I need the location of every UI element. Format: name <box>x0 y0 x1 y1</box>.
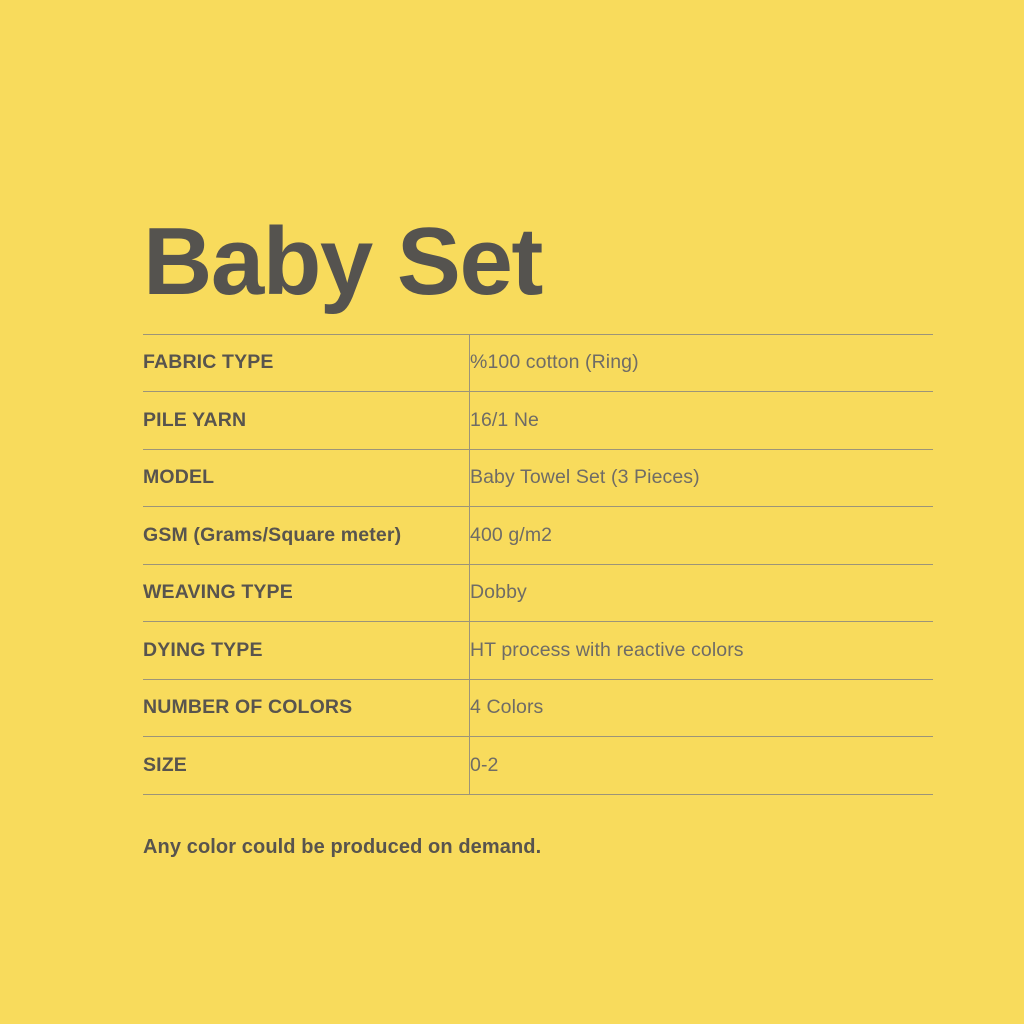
specification-table: FABRIC TYPE %100 cotton (Ring) PILE YARN… <box>143 334 933 795</box>
spec-label: GSM (Grams/Square meter) <box>143 507 470 565</box>
page-title: Baby Set <box>143 208 933 316</box>
footer-note: Any color could be produced on demand. <box>143 836 933 859</box>
spec-value: 0-2 <box>470 737 934 795</box>
spec-value: 400 g/m2 <box>470 507 934 565</box>
table-row: WEAVING TYPE Dobby <box>143 564 933 622</box>
spec-value: 4 Colors <box>470 679 934 737</box>
spec-label: MODEL <box>143 449 470 507</box>
spec-value: %100 cotton (Ring) <box>470 334 934 392</box>
spec-value: Dobby <box>470 564 934 622</box>
table-row: SIZE 0-2 <box>143 737 933 795</box>
table-row: GSM (Grams/Square meter) 400 g/m2 <box>143 507 933 565</box>
spec-value: 16/1 Ne <box>470 392 934 450</box>
spec-label: WEAVING TYPE <box>143 564 470 622</box>
spec-value: Baby Towel Set (3 Pieces) <box>470 449 934 507</box>
product-spec-card: Baby Set FABRIC TYPE %100 cotton (Ring) … <box>0 0 1024 1024</box>
table-row: DYING TYPE HT process with reactive colo… <box>143 622 933 680</box>
table-row: MODEL Baby Towel Set (3 Pieces) <box>143 449 933 507</box>
spec-label: PILE YARN <box>143 392 470 450</box>
spec-label: DYING TYPE <box>143 622 470 680</box>
spec-label: SIZE <box>143 737 470 795</box>
content-container: Baby Set FABRIC TYPE %100 cotton (Ring) … <box>143 208 933 859</box>
spec-label: NUMBER OF COLORS <box>143 679 470 737</box>
spec-label: FABRIC TYPE <box>143 334 470 392</box>
table-row: PILE YARN 16/1 Ne <box>143 392 933 450</box>
specification-table-body: FABRIC TYPE %100 cotton (Ring) PILE YARN… <box>143 334 933 794</box>
spec-value: HT process with reactive colors <box>470 622 934 680</box>
table-row: NUMBER OF COLORS 4 Colors <box>143 679 933 737</box>
table-row: FABRIC TYPE %100 cotton (Ring) <box>143 334 933 392</box>
